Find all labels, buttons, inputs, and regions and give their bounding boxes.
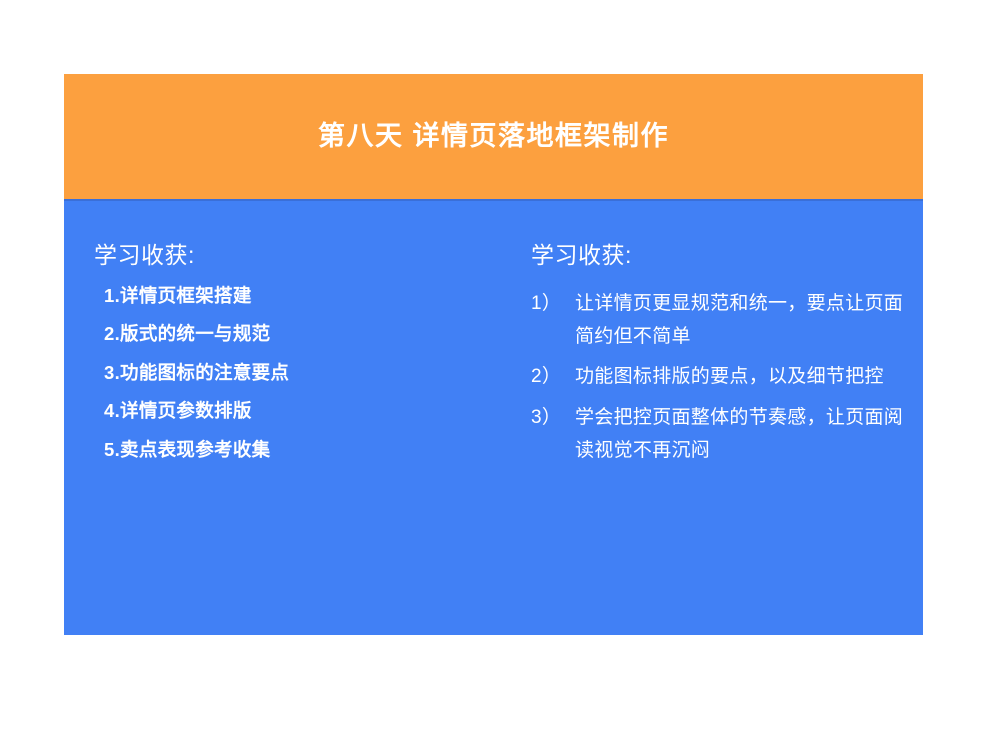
- right-column: 学习收获: 1） 让详情页更显规范和统一，要点让页面简约但不简单 2） 功能图标…: [531, 241, 911, 474]
- right-column-heading: 学习收获:: [531, 241, 911, 271]
- slide-header-band: 第八天 详情页落地框架制作: [64, 74, 923, 199]
- list-item-text: 功能图标排版的要点，以及细节把控: [575, 360, 911, 393]
- list-item: 3） 学会把控页面整体的节奏感，让页面阅读视觉不再沉闷: [531, 401, 911, 468]
- presentation-slide: 第八天 详情页落地框架制作 学习收获: 1.详情页框架搭建 2.版式的统一与规范…: [0, 0, 985, 737]
- left-column: 学习收获: 1.详情页框架搭建 2.版式的统一与规范 3.功能图标的注意要点 4…: [94, 241, 454, 479]
- list-item: 5.卖点表现参考收集: [94, 441, 454, 460]
- slide-title: 第八天 详情页落地框架制作: [318, 120, 669, 152]
- list-item: 2） 功能图标排版的要点，以及细节把控: [531, 360, 911, 393]
- list-item: 2.版式的统一与规范: [94, 325, 454, 344]
- left-column-heading: 学习收获:: [94, 241, 454, 271]
- list-item-marker: 1）: [531, 287, 571, 320]
- list-item-text: 让详情页更显规范和统一，要点让页面简约但不简单: [575, 287, 911, 354]
- content-columns: 学习收获: 1.详情页框架搭建 2.版式的统一与规范 3.功能图标的注意要点 4…: [64, 201, 923, 637]
- slide-body-panel: 学习收获: 1.详情页框架搭建 2.版式的统一与规范 3.功能图标的注意要点 4…: [64, 199, 923, 635]
- list-item-marker: 3）: [531, 401, 571, 434]
- left-column-list: 1.详情页框架搭建 2.版式的统一与规范 3.功能图标的注意要点 4.详情页参数…: [94, 287, 454, 460]
- list-item-text: 学会把控页面整体的节奏感，让页面阅读视觉不再沉闷: [575, 401, 911, 468]
- list-item-marker: 2）: [531, 360, 571, 393]
- list-item: 1） 让详情页更显规范和统一，要点让页面简约但不简单: [531, 287, 911, 354]
- list-item: 3.功能图标的注意要点: [94, 364, 454, 383]
- right-column-list: 1） 让详情页更显规范和统一，要点让页面简约但不简单 2） 功能图标排版的要点，…: [531, 287, 911, 467]
- list-item: 4.详情页参数排版: [94, 402, 454, 421]
- list-item: 1.详情页框架搭建: [94, 287, 454, 306]
